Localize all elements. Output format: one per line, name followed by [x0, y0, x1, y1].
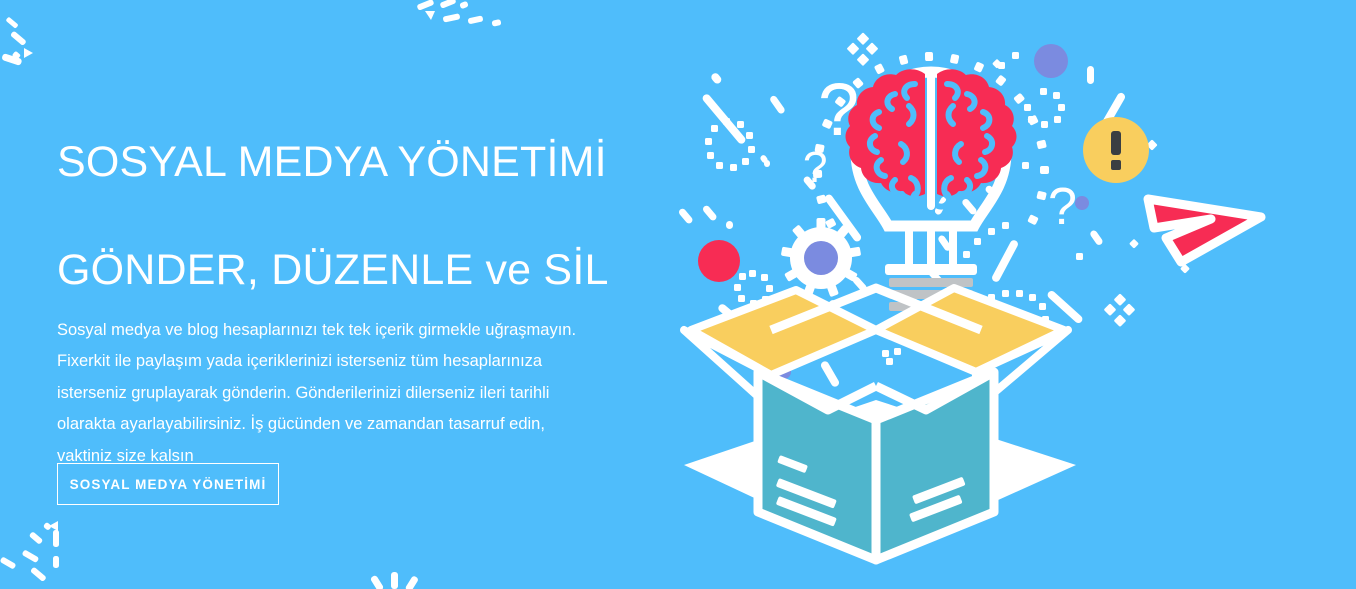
- open-box-icon: [684, 288, 1076, 560]
- dot-decoration: [1034, 44, 1068, 78]
- gear-icon: [781, 218, 861, 297]
- dot-decoration: [1075, 196, 1089, 210]
- hero-banner: ? ? ?: [0, 0, 1356, 589]
- page-title-line2: GÖNDER, DÜZENLE ve SİL: [57, 247, 609, 294]
- page-title-line1: SOSYAL MEDYA YÖNETİMİ: [57, 139, 607, 186]
- idea-box-illustration: ? ? ?: [676, 0, 1356, 589]
- hero-description: Sosyal medya ve blog hesaplarınızı tek t…: [57, 315, 587, 473]
- exclamation-badge-icon: [1083, 117, 1149, 183]
- question-mark-icon: ?: [1048, 178, 1077, 236]
- sosyal-medya-yonetimi-button[interactable]: SOSYAL MEDYA YÖNETİMİ: [57, 463, 279, 505]
- hero-text-column: SOSYAL MEDYA YÖNETİMİ GÖNDER, DÜZENLE ve…: [57, 0, 677, 589]
- dot-decoration: [698, 240, 740, 282]
- paper-plane-icon: [1148, 199, 1261, 262]
